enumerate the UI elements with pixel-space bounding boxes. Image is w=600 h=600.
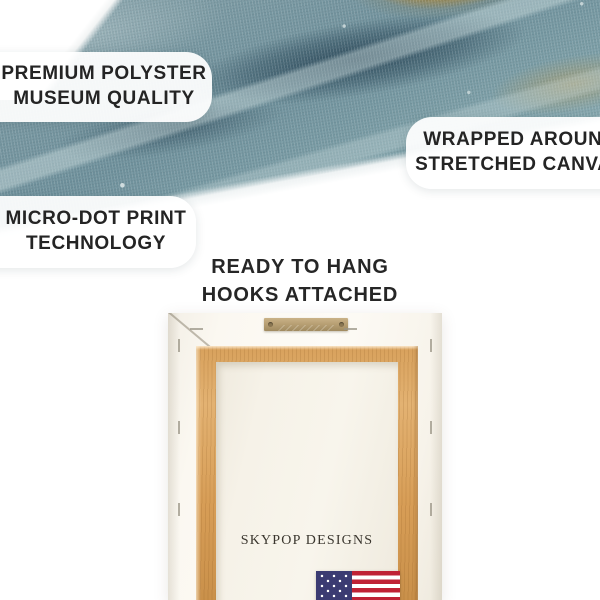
stretcher-right-shadow — [413, 346, 418, 600]
ready-to-hang-heading: READY TO HANG HOOKS ATTACHED — [0, 253, 600, 309]
united-states-flag-icon — [316, 571, 400, 600]
wooden-stretcher-frame: SKYPOP DESIGNS — [196, 346, 418, 600]
badge-wrapped-line-2: STRETCHED CANVAS — [406, 153, 600, 178]
badge-premium-line-2: MUSEUM QUALITY — [0, 87, 212, 112]
heading-line-1: READY TO HANG — [0, 253, 600, 281]
staple-right-3 — [430, 503, 432, 516]
staple-top-left — [190, 328, 203, 330]
staple-right-1 — [430, 339, 432, 352]
sawtooth-hanger-icon — [264, 318, 348, 331]
hanger-screw-hole-left — [268, 322, 273, 327]
staple-right-2 — [430, 421, 432, 434]
badge-wrapped-line-1: WRAPPED AROUND — [406, 128, 600, 153]
staple-left-3 — [178, 503, 180, 516]
staple-left-2 — [178, 421, 180, 434]
canvas-inner-back: SKYPOP DESIGNS — [216, 362, 398, 600]
flag-canton — [316, 571, 352, 600]
badge-premium-line-1: PREMIUM POLYSTER — [0, 62, 212, 87]
hanger-screw-hole-right — [339, 322, 344, 327]
brand-label: SKYPOP DESIGNS — [216, 533, 398, 549]
badge-premium-polyster: PREMIUM POLYSTER MUSEUM QUALITY — [0, 52, 212, 122]
stretcher-top-highlight — [196, 346, 418, 350]
badge-microdot-line-1: MICRO-DOT PRINT — [0, 207, 196, 232]
canvas-back-photo: SKYPOP DESIGNS — [168, 313, 442, 600]
product-feature-graphic: PREMIUM POLYSTER MUSEUM QUALITY WRAPPED … — [0, 0, 600, 600]
heading-line-2: HOOKS ATTACHED — [0, 281, 600, 309]
staple-left-1 — [178, 339, 180, 352]
back-right-shading — [430, 313, 442, 600]
stretcher-left-highlight — [196, 346, 201, 600]
badge-wrapped-around: WRAPPED AROUND STRETCHED CANVAS — [406, 117, 600, 189]
staple-top-right — [344, 328, 357, 330]
hanger-teeth — [278, 325, 334, 331]
